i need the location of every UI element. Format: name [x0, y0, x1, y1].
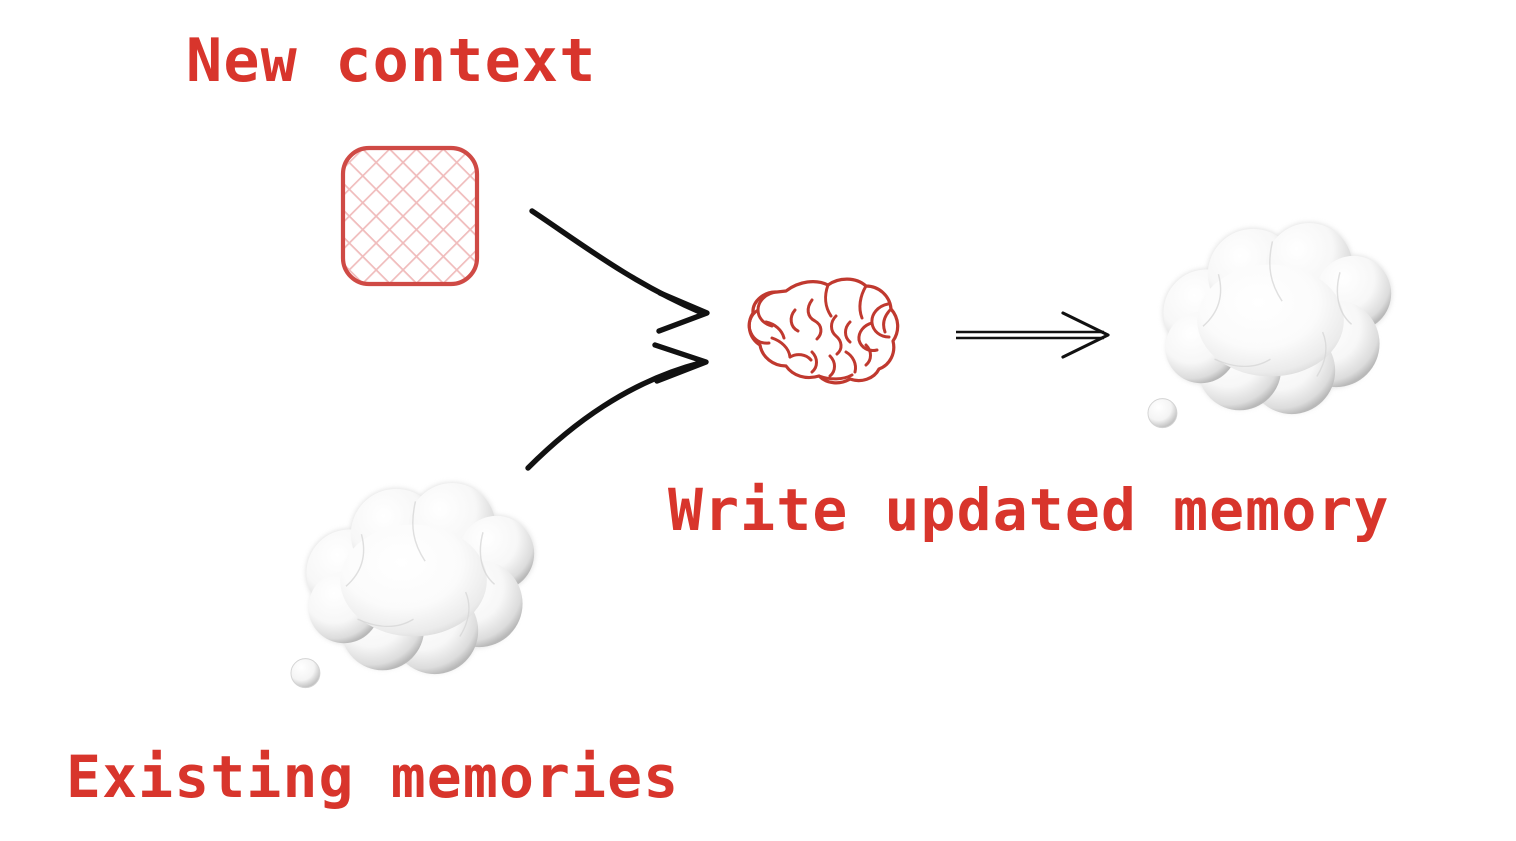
- arrow-context-to-brain: [532, 211, 707, 331]
- thought-balloon-icon-updated: [1148, 222, 1392, 428]
- diagram-canvas: New context Write updated memory Existin…: [0, 0, 1516, 841]
- arrow-existing-to-brain: [528, 345, 706, 468]
- arrow-brain-to-updated-memory: [956, 313, 1108, 357]
- label-existing-memories: Existing memories: [66, 748, 679, 806]
- label-write-updated-memory: Write updated memory: [668, 481, 1390, 539]
- thought-balloon-icon-existing: [291, 482, 535, 688]
- hatched-rounded-square-icon: [343, 148, 477, 284]
- diagram-artwork: [0, 0, 1516, 841]
- brain-icon: [749, 279, 897, 383]
- label-new-context: New context: [186, 31, 597, 91]
